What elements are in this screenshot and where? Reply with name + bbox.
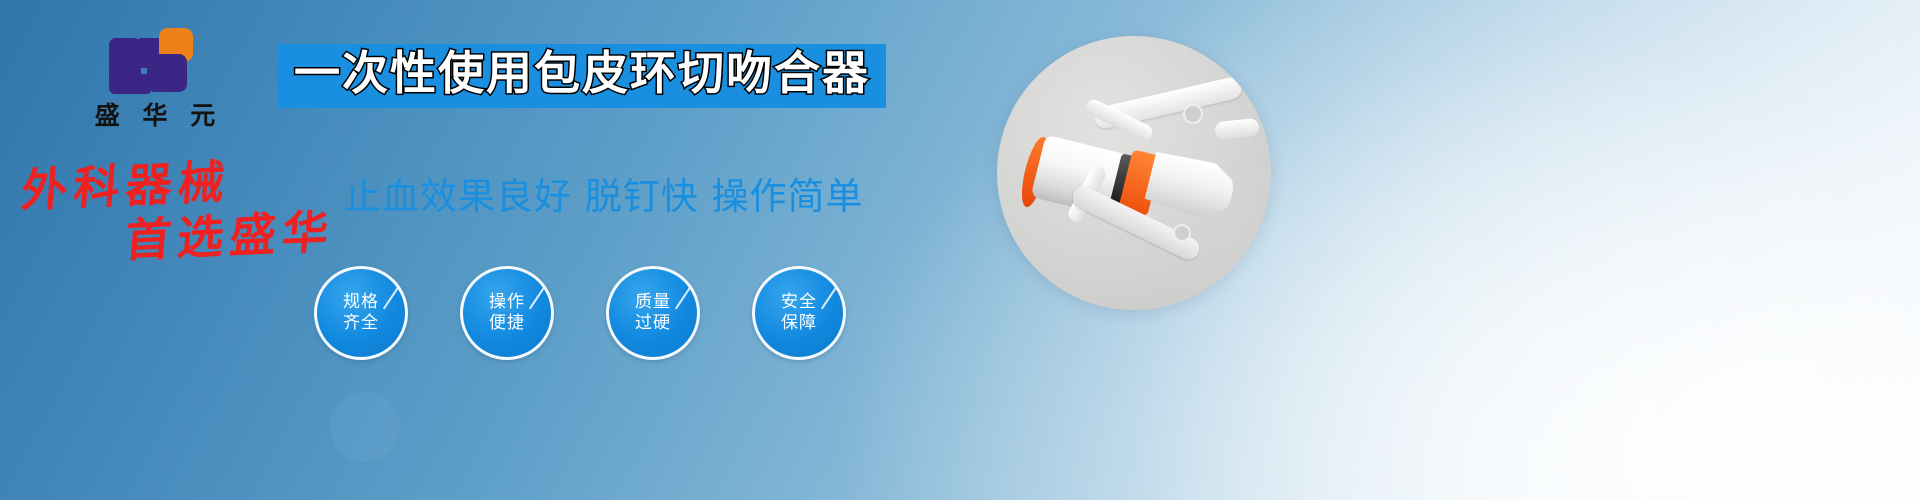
feature-badge-list: 规格 齐全 操作 便捷 质量 过硬 安全 保障	[314, 266, 846, 360]
stapler-hinge-upper	[1183, 104, 1203, 124]
stapler-hinge-lower	[1173, 224, 1191, 242]
feature-badge-3[interactable]: 质量 过硬	[606, 266, 700, 360]
feature-badge-4-line1: 安全	[781, 292, 817, 313]
stapler-cone-head	[1143, 149, 1238, 224]
logo-mark-icon	[109, 28, 201, 96]
product-title: 一次性使用包皮环切吻合器	[294, 48, 870, 100]
feature-badge-4[interactable]: 安全 保障	[752, 266, 846, 360]
logo-square-3	[147, 54, 187, 92]
feature-badge-1[interactable]: 规格 齐全	[314, 266, 408, 360]
feature-badge-2-line1: 操作	[489, 292, 525, 313]
product-title-bar: 一次性使用包皮环切吻合器	[278, 44, 886, 108]
slash-decoration-icon	[821, 287, 837, 310]
feature-badge-2-line2: 便捷	[489, 313, 525, 334]
feature-badge-4-line2: 保障	[781, 313, 817, 334]
feature-badge-1-line1: 规格	[343, 292, 379, 313]
product-photo	[997, 36, 1271, 310]
feature-badge-3-line1: 质量	[635, 292, 671, 313]
brand-name: 盛 华 元	[60, 102, 250, 130]
slash-decoration-icon	[675, 287, 691, 310]
feature-badge-3-line2: 过硬	[635, 313, 671, 334]
stapler-handle-tip	[1214, 118, 1260, 141]
slogan-line-2: 首选盛华	[123, 195, 337, 270]
slash-decoration-icon	[383, 287, 399, 310]
slash-decoration-icon	[529, 287, 545, 310]
decorative-circle	[330, 392, 400, 462]
brand-logo: 盛 华 元	[60, 28, 250, 130]
promo-banner: 盛 华 元 一次性使用包皮环切吻合器 外科器械 首选盛华 止血效果良好 脱钉快 …	[0, 0, 1920, 500]
feature-badge-1-line2: 齐全	[343, 313, 379, 334]
feature-badge-2[interactable]: 操作 便捷	[460, 266, 554, 360]
logo-square-5	[133, 74, 151, 94]
product-subtitle: 止血效果良好 脱钉快 操作简单	[344, 166, 864, 220]
